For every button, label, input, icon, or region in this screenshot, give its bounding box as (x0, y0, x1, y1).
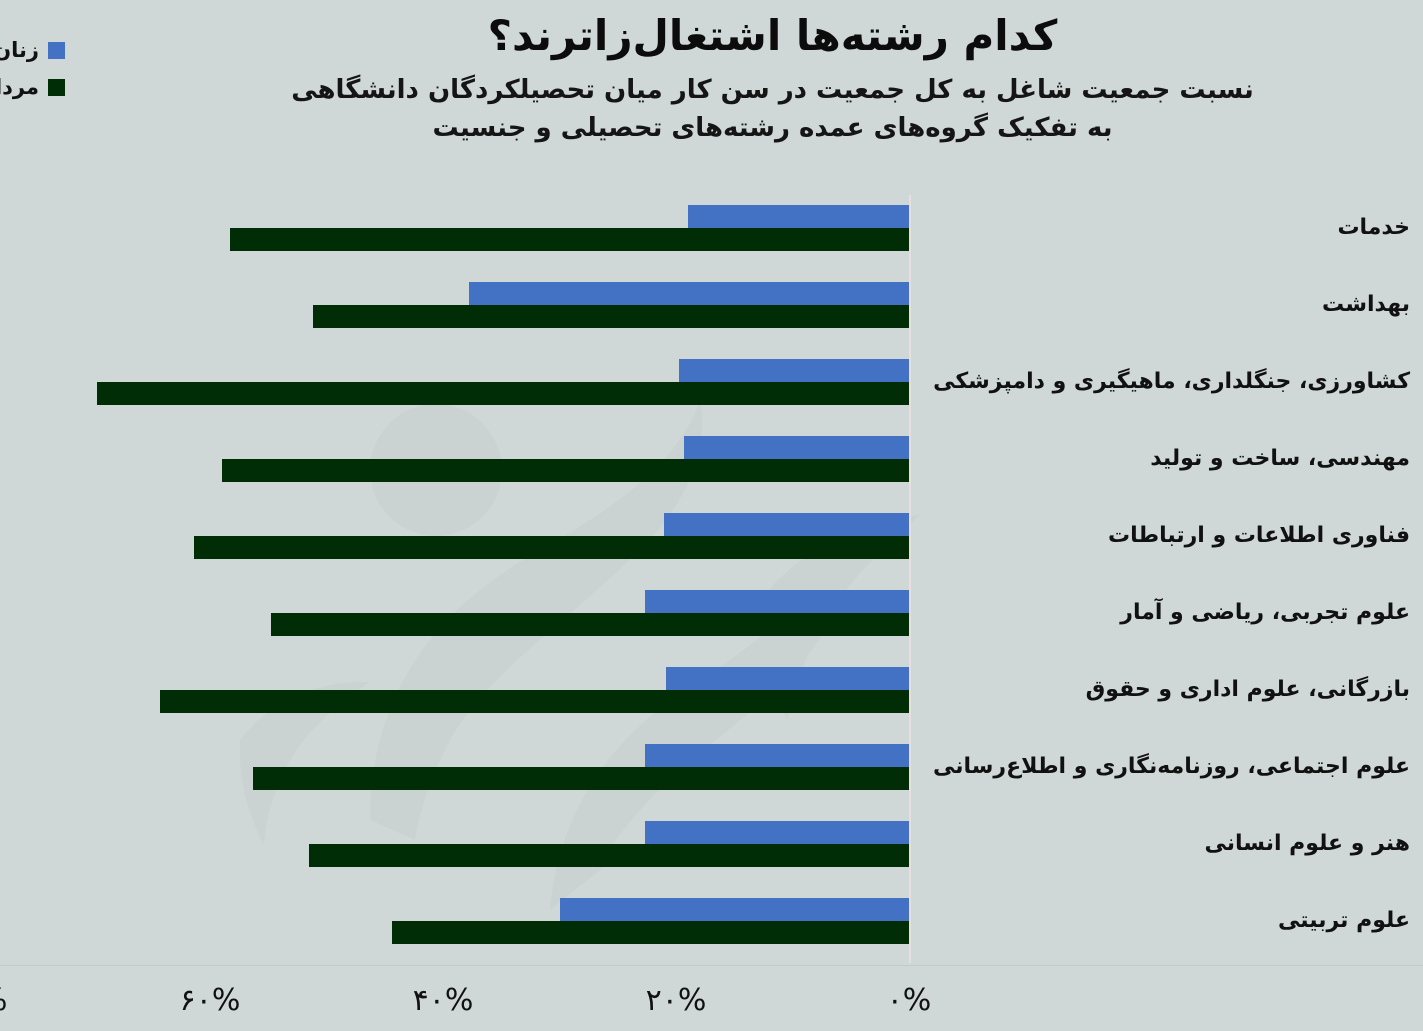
x-axis-rule (0, 965, 1423, 966)
bar-women (679, 359, 909, 382)
bar-group: علوم تربیتی (0, 898, 1423, 964)
bar-men (309, 844, 909, 867)
chart-subtitle-line-2: به تفکیک گروه‌های عمده رشته‌های تحصیلی و… (180, 110, 1365, 148)
bar-men (97, 382, 909, 405)
bar-group: فناوری اطلاعات و ارتباطات (0, 513, 1423, 579)
x-axis-tick-label: ۲۰% (646, 983, 707, 1018)
category-label: علوم تربیتی (930, 908, 1410, 933)
bar-women (666, 667, 909, 690)
bar-women (645, 744, 909, 767)
bar-men (392, 921, 909, 944)
bar-group: علوم تجربی، ریاضی و آمار (0, 590, 1423, 656)
title-block: کدام رشته‌ها اشتغال‌زاترند؟ نسبت جمعیت ش… (180, 14, 1365, 147)
bar-women (688, 205, 909, 228)
bar-women (684, 436, 909, 459)
page-title: کدام رشته‌ها اشتغال‌زاترند؟ (180, 14, 1365, 58)
chart-legend: زنان مردان (0, 40, 65, 114)
x-axis-tick-label: ۶۰% (180, 983, 241, 1018)
x-axis-tick-label: ۴۰% (413, 983, 474, 1018)
bar-men (160, 690, 909, 713)
x-axis: ۸۰%۶۰%۴۰%۲۰%۰% (0, 965, 1423, 1031)
legend-item-women: زنان (0, 40, 65, 61)
bar-men (253, 767, 909, 790)
bar-women (664, 513, 909, 536)
square-swatch-icon (48, 79, 65, 96)
category-label: خدمات (930, 215, 1410, 240)
bar-women (560, 898, 910, 921)
bar-men (313, 305, 909, 328)
square-swatch-icon (48, 42, 65, 59)
legend-label-men: مردان (0, 77, 39, 98)
bar-women (645, 821, 909, 844)
category-label: علوم اجتماعی، روزنامه‌نگاری و اطلاع‌رسان… (930, 754, 1410, 779)
chart-subtitle-line-1: نسبت جمعیت شاغل به کل جمعیت در سن کار می… (180, 72, 1365, 110)
bar-group: بهداشت (0, 282, 1423, 348)
bar-group: بازرگانی، علوم اداری و حقوق (0, 667, 1423, 733)
bar-men (230, 228, 909, 251)
bar-chart-plot-area: خدماتبهداشتکشاورزی، جنگلداری، ماهیگیری و… (0, 195, 1423, 965)
x-axis-tick-label: ۸۰% (0, 983, 7, 1018)
bar-women (645, 590, 909, 613)
category-label: فناوری اطلاعات و ارتباطات (930, 523, 1410, 548)
category-label: کشاورزی، جنگلداری، ماهیگیری و دامپزشکی (930, 369, 1410, 394)
bar-men (194, 536, 909, 559)
bar-men (271, 613, 909, 636)
category-label: علوم تجربی، ریاضی و آمار (930, 600, 1410, 625)
bar-group: خدمات (0, 205, 1423, 271)
category-label: بهداشت (930, 292, 1410, 317)
bar-group: علوم اجتماعی، روزنامه‌نگاری و اطلاع‌رسان… (0, 744, 1423, 810)
bar-group: مهندسی، ساخت و تولید (0, 436, 1423, 502)
bar-men (222, 459, 909, 482)
category-label: بازرگانی، علوم اداری و حقوق (930, 677, 1410, 702)
category-label: مهندسی، ساخت و تولید (930, 446, 1410, 471)
legend-item-men: مردان (0, 77, 65, 98)
x-axis-tick-label: ۰% (887, 983, 932, 1018)
bar-group: کشاورزی، جنگلداری، ماهیگیری و دامپزشکی (0, 359, 1423, 425)
category-label: هنر و علوم انسانی (930, 831, 1410, 856)
legend-label-women: زنان (0, 40, 39, 61)
bar-women (469, 282, 909, 305)
bar-group: هنر و علوم انسانی (0, 821, 1423, 887)
